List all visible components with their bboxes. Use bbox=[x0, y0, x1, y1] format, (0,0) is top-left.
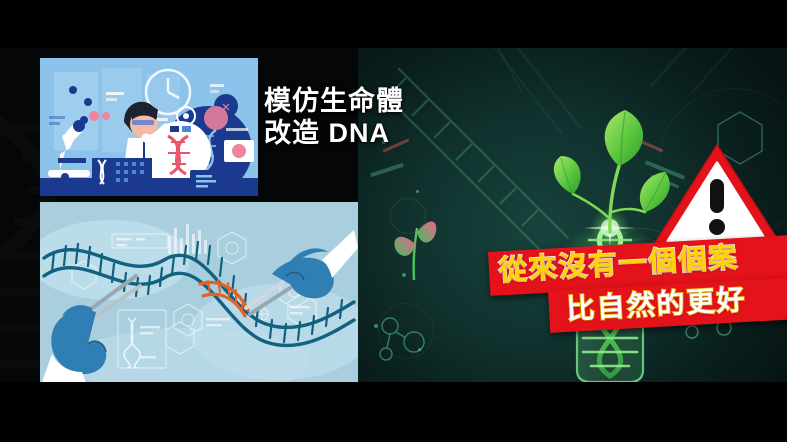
letterbox-top bbox=[0, 0, 787, 48]
headline-line-2: 改造 DNA bbox=[264, 118, 404, 150]
scientist-lab-illustration: ✕ bbox=[40, 58, 258, 196]
page-title: 模仿生命體 改造 DNA bbox=[264, 86, 404, 150]
gene-editing-illustration bbox=[40, 202, 358, 382]
letterbox-bottom bbox=[0, 382, 787, 442]
gradient-sprout-icon bbox=[386, 206, 442, 282]
headline-line-1: 模仿生命體 bbox=[264, 86, 404, 118]
poster-canvas: ✕ bbox=[0, 0, 787, 442]
